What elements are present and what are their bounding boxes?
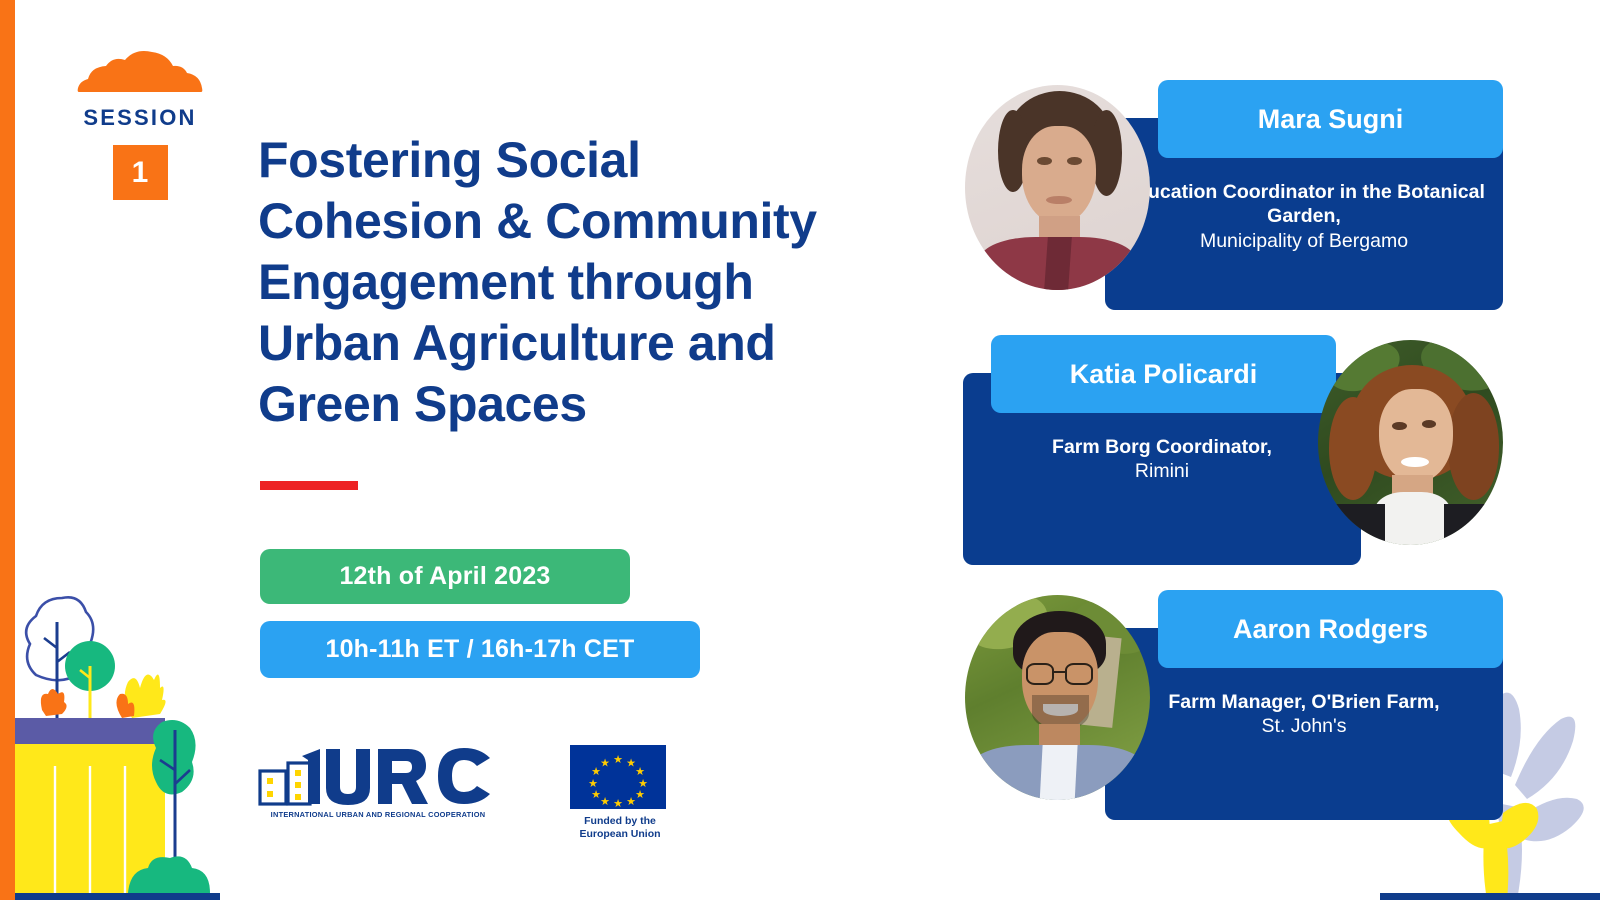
svg-text:★: ★ bbox=[591, 789, 601, 801]
cloud-icon bbox=[75, 48, 205, 93]
speaker-org: Municipality of Bergamo bbox=[1105, 229, 1503, 254]
speaker-org: Rimini bbox=[963, 459, 1361, 484]
avatar bbox=[965, 595, 1150, 800]
speaker-org: St. John's bbox=[1105, 714, 1503, 739]
bottom-bar-left bbox=[15, 893, 220, 900]
iurc-logo: INTERNATIONAL URBAN AND REGIONAL COOPERA… bbox=[258, 745, 498, 819]
page-title: Fostering Social Cohesion & Community En… bbox=[258, 130, 878, 435]
svg-text:★: ★ bbox=[635, 766, 645, 778]
speaker-name: Aaron Rodgers bbox=[1158, 590, 1503, 668]
svg-text:★: ★ bbox=[600, 758, 610, 770]
svg-text:★: ★ bbox=[626, 796, 636, 808]
svg-text:★: ★ bbox=[588, 778, 598, 790]
speaker-card: Farm Borg Coordinator, Rimini Katia Poli… bbox=[963, 335, 1503, 565]
event-time-badge: 10h-11h ET / 16h-17h CET bbox=[260, 621, 700, 678]
speaker-role: Farm Borg Coordinator, bbox=[963, 435, 1361, 459]
eu-caption-line1: Funded by the bbox=[570, 815, 670, 828]
speaker-card: Farm Manager, O'Brien Farm, St. John's A… bbox=[965, 590, 1505, 820]
iurc-tagline: INTERNATIONAL URBAN AND REGIONAL COOPERA… bbox=[258, 810, 498, 819]
speaker-name: Mara Sugni bbox=[1158, 80, 1503, 158]
svg-text:★: ★ bbox=[613, 798, 623, 809]
bottom-bar-right bbox=[1380, 893, 1600, 900]
speaker-card: Education Coordinator in the Botanical G… bbox=[965, 80, 1505, 310]
iurc-wordmark-icon bbox=[258, 745, 498, 807]
svg-text:★: ★ bbox=[600, 796, 610, 808]
speaker-role: Farm Manager, O'Brien Farm, bbox=[1105, 690, 1503, 714]
garden-planter-illustration bbox=[0, 570, 228, 900]
eu-caption-line2: European Union bbox=[570, 828, 670, 841]
svg-text:★: ★ bbox=[613, 754, 623, 766]
session-number: 1 bbox=[113, 145, 168, 200]
avatar bbox=[965, 85, 1150, 290]
speaker-name: Katia Policardi bbox=[991, 335, 1336, 413]
speaker-role: Education Coordinator in the Botanical G… bbox=[1105, 180, 1503, 229]
eu-flag-icon: ★ ★ ★ ★ ★ ★ ★ ★ ★ ★ ★ ★ bbox=[570, 745, 666, 809]
avatar bbox=[1318, 340, 1503, 545]
title-divider bbox=[260, 481, 358, 490]
svg-text:★: ★ bbox=[635, 789, 645, 801]
session-label: SESSION bbox=[75, 105, 205, 131]
event-date-badge: 12th of April 2023 bbox=[260, 549, 630, 604]
logo-row: INTERNATIONAL URBAN AND REGIONAL COOPERA… bbox=[258, 745, 670, 841]
eu-logo: ★ ★ ★ ★ ★ ★ ★ ★ ★ ★ ★ ★ Funded by the Eu… bbox=[570, 745, 670, 841]
session-badge: SESSION 1 bbox=[75, 48, 205, 200]
